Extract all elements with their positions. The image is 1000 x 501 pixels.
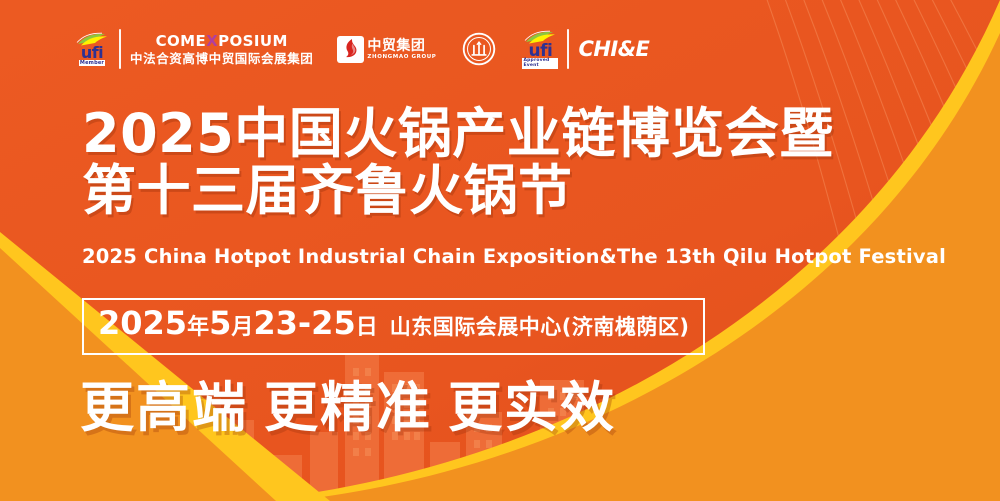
logo-divider [119, 29, 121, 69]
event-date-month: 5 [209, 304, 231, 342]
event-date-month-char: 月 [231, 315, 253, 340]
date-venue-box: 2025年5月23-25日 山东国际会展中心(济南槐荫区) [82, 298, 705, 355]
ufi-approved-label: Approved Event [522, 58, 558, 69]
event-date-day-char: 日 [356, 315, 378, 340]
comexposium-wordmark: COMEXPOSIUM [156, 33, 288, 50]
event-slogan: 更高端更精准更实效 [80, 378, 616, 438]
comexposium-en-left: COME [156, 32, 207, 50]
headline-block: 2025中国火锅产业链博览会暨 第十三届齐鲁火锅节 [82, 105, 834, 219]
event-date-year-char: 年 [187, 315, 209, 340]
ufi-approved-event-logo: ufi Approved Event [522, 30, 558, 69]
chie-logo: CHI&E [578, 37, 649, 61]
shandong-seal-icon [462, 32, 496, 66]
ufi-member-logo: ufi Member [74, 32, 110, 66]
zhongmao-text: 中贸集团 ZHONGMAO GROUP [367, 38, 436, 61]
ufi-approved-wordmark: ufi [529, 44, 553, 58]
comexposium-en-right: POSIUM [218, 32, 288, 50]
slogan-part-2: 更精准 [264, 376, 432, 439]
headline-line-1: 2025中国火锅产业链博览会暨 [82, 105, 834, 162]
zhongmao-badge [337, 36, 364, 63]
event-date: 2025年5月23-25日 [98, 306, 378, 345]
event-date-days: 23-25 [253, 304, 355, 342]
comexposium-logo: COMEXPOSIUM 中法合资高博中贸国际会展集团 [130, 33, 313, 66]
comexposium-x-glyph: X [206, 32, 218, 50]
event-venue: 山东国际会展中心(济南槐荫区) [390, 310, 690, 344]
ufi-member-label: Member [79, 60, 105, 66]
yellow-swoosh-left [0, 232, 330, 501]
event-poster: ufi Member COMEXPOSIUM 中法合资高博中贸国际会展集团 中贸… [0, 0, 1000, 501]
slogan-part-3: 更实效 [448, 376, 616, 439]
ufi-wordmark: ufi [81, 46, 103, 60]
comexposium-chinese-name: 中法合资高博中贸国际会展集团 [130, 51, 313, 66]
headline-line-2: 第十三届齐鲁火锅节 [82, 162, 834, 219]
logo-divider-2 [567, 29, 569, 69]
headline-subtitle-english: 2025 China Hotpot Industrial Chain Expos… [82, 245, 946, 268]
zhongmao-logo: 中贸集团 ZHONGMAO GROUP [337, 36, 436, 63]
zhongmao-chinese-name: 中贸集团 [367, 38, 436, 54]
light-orange-wedge-left [0, 248, 276, 501]
zhongmao-english-name: ZHONGMAO GROUP [367, 54, 436, 61]
sponsor-logo-strip: ufi Member COMEXPOSIUM 中法合资高博中贸国际会展集团 中贸… [74, 24, 649, 74]
slogan-part-1: 更高端 [80, 376, 248, 439]
zhongmao-mark-icon [340, 38, 362, 60]
event-date-year: 2025 [98, 304, 187, 342]
